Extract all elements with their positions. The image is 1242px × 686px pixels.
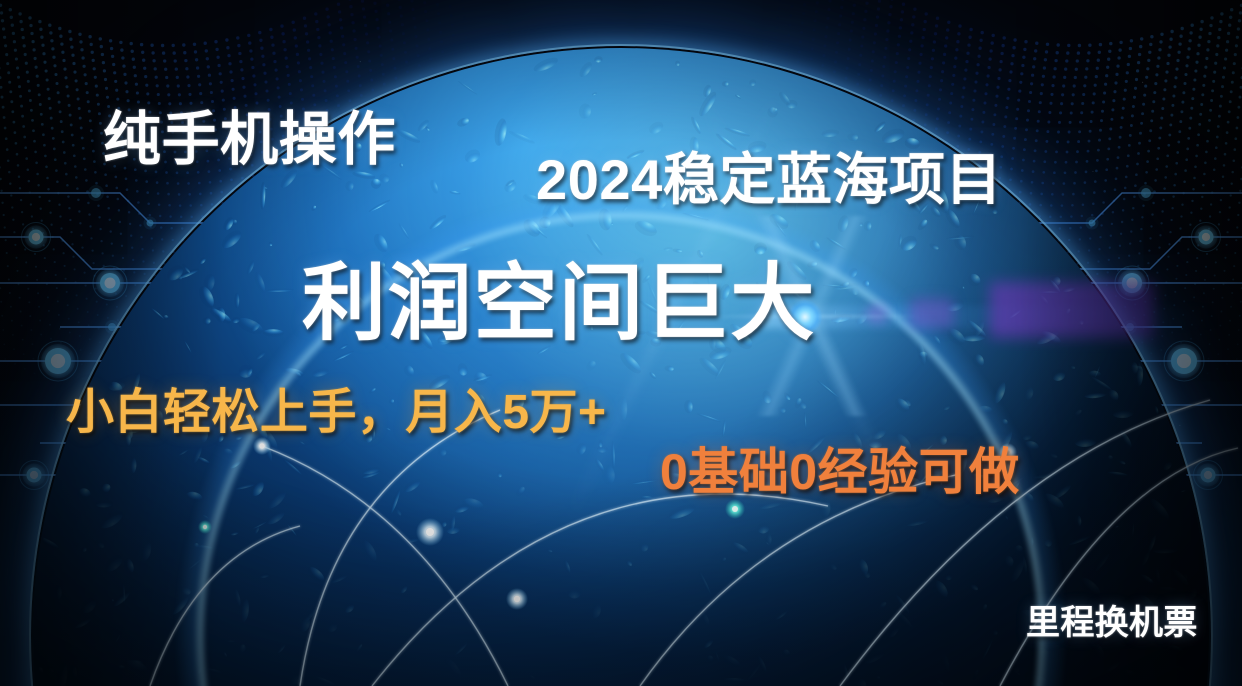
lens-flare [742,260,1242,370]
flare-ghost-rect [990,282,1154,338]
headline-zero-base: 0基础0经验可做 [660,432,1020,504]
headline-project-2024: 2024稳定蓝海项目 [536,135,1002,216]
headline-pure-phone: 纯手机操作 [103,92,396,176]
headline-miles-ticket: 里程换机票 [1026,595,1198,644]
promo-poster: 纯手机操作 2024稳定蓝海项目 利润空间巨大 小白轻松上手，月入5万+ 0基础… [0,0,1242,686]
headline-beginner-income: 小白轻松上手，月入5万+ [66,372,607,442]
headline-profit-huge: 利润空间巨大 [302,236,816,357]
